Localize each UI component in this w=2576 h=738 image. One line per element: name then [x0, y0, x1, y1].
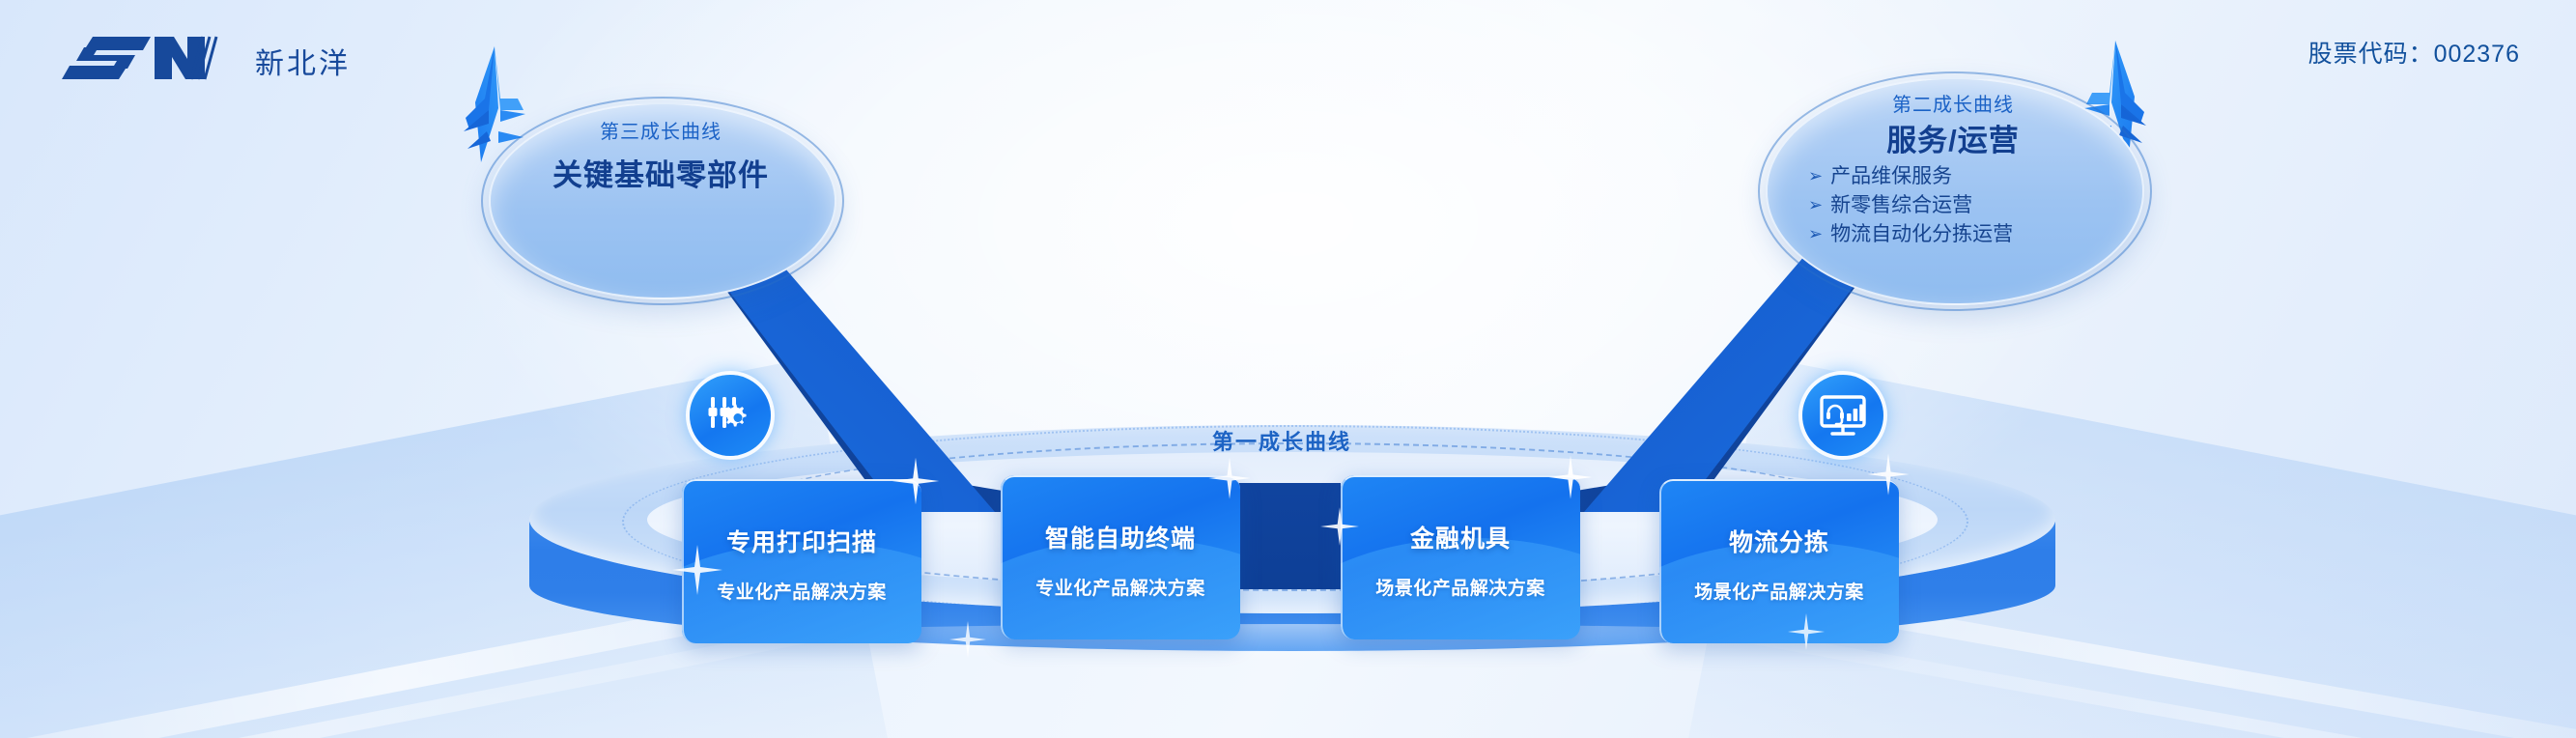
sliders-gear-icon[interactable]: [690, 375, 771, 456]
snbc-logo: SNBC 新北洋: [58, 33, 351, 83]
snbc-logo-icon: [58, 33, 241, 83]
third-curve-title: 关键基础零部件: [489, 151, 833, 194]
bullet-arrow-icon: ➢: [1808, 164, 1823, 189]
bullet-label: 物流自动化分拣运营: [1830, 220, 2013, 249]
bullet-label: 新零售综合运营: [1830, 191, 1972, 220]
product-card-logistics[interactable]: 物流分拣 场景化产品解决方案: [1659, 479, 1899, 643]
monitor-headset-chart-icon[interactable]: [1802, 375, 1883, 456]
infographic-canvas: SNBC 新北洋 股票代码：002376: [0, 0, 2576, 738]
card-subtitle: 专业化产品解决方案: [1001, 574, 1240, 600]
card-title: 专用打印扫描: [682, 524, 921, 558]
card-title: 物流分拣: [1659, 524, 1899, 558]
ribbon-cross-notch: [1227, 483, 1341, 589]
card-subtitle: 专业化产品解决方案: [682, 578, 921, 604]
second-curve-eyebrow: 第二成长曲线: [1766, 89, 2140, 117]
second-curve-bullet-list: ➢ 产品维保服务 ➢ 新零售综合运营 ➢ 物流自动化分拣运营: [1808, 162, 2013, 248]
bullet-arrow-icon: ➢: [1808, 193, 1823, 218]
product-card-financial[interactable]: 金融机具 场景化产品解决方案: [1341, 475, 1580, 639]
card-subtitle: 场景化产品解决方案: [1659, 578, 1899, 604]
product-card-self-service[interactable]: 智能自助终端 专业化产品解决方案: [1001, 475, 1240, 639]
bullet-item: ➢ 新零售综合运营: [1808, 191, 2013, 220]
bullet-item: ➢ 产品维保服务: [1808, 162, 2013, 191]
third-curve-eyebrow: 第三成长曲线: [489, 116, 833, 144]
bullet-item: ➢ 物流自动化分拣运营: [1808, 220, 2013, 249]
second-curve-title: 服务/运营: [1766, 116, 2140, 159]
bullet-label: 产品维保服务: [1830, 162, 1952, 191]
first-curve-label: 第一成长曲线: [1212, 425, 1351, 456]
stock-code-label: 股票代码：002376: [2308, 35, 2520, 70]
bullet-arrow-icon: ➢: [1808, 222, 1823, 247]
logo-chinese-text: 新北洋: [255, 50, 351, 83]
card-subtitle: 场景化产品解决方案: [1341, 574, 1580, 600]
product-card-printing[interactable]: 专用打印扫描 专业化产品解决方案: [682, 479, 921, 643]
card-title: 金融机具: [1341, 520, 1580, 554]
card-title: 智能自助终端: [1001, 520, 1240, 554]
